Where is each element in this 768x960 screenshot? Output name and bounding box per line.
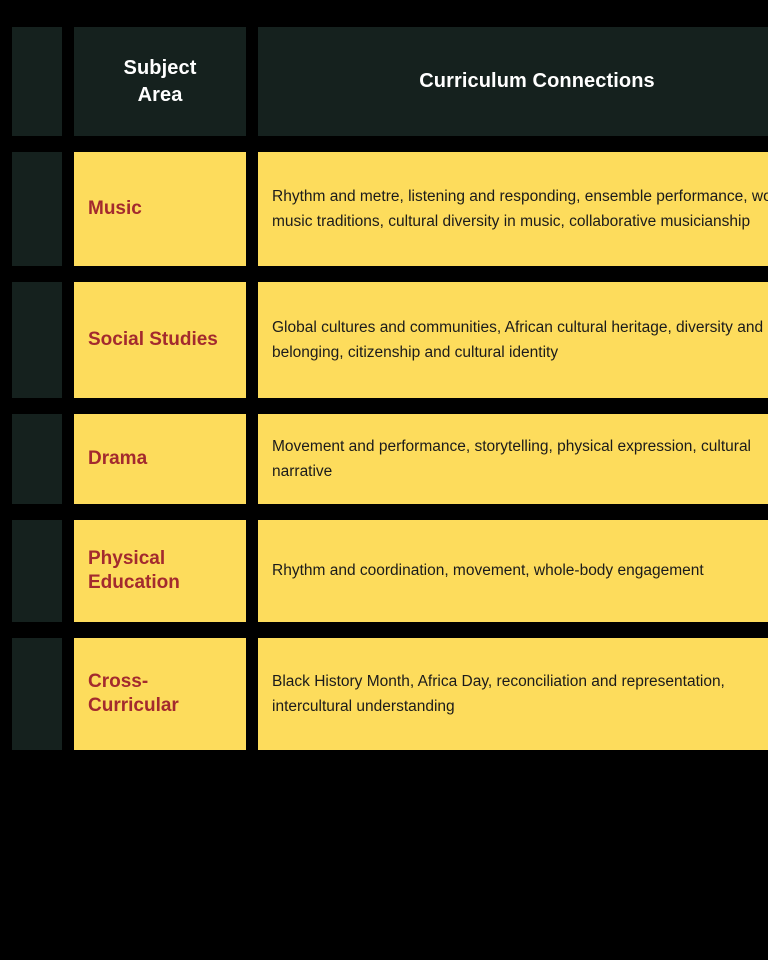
subject-area-cell: Social Studies [74,282,246,398]
table-row: Drama Movement and performance, storytel… [12,414,768,504]
subject-area-label: Music [88,197,232,221]
subject-area-label: Social Studies [88,328,232,352]
row-gutter-cell [12,520,62,622]
curriculum-connections-table: Subject Area Curriculum Connections Musi… [0,11,768,766]
curriculum-connections-cell: Global cultures and communities, African… [258,282,768,398]
header-gutter-cell [12,27,62,136]
header-curriculum-connections: Curriculum Connections [258,27,768,136]
header-subject-area-line2: Area [138,84,183,106]
row-gutter-cell [12,414,62,504]
header-subject-area: Subject Area [74,27,246,136]
curriculum-connections-cell: Black History Month, Africa Day, reconci… [258,638,768,750]
header-row: Subject Area Curriculum Connections [12,27,768,136]
subject-area-cell: Drama [74,414,246,504]
subject-area-cell: Cross-Curricular [74,638,246,750]
table-body: Music Rhythm and metre, listening and re… [12,152,768,750]
row-gutter-cell [12,638,62,750]
subject-area-label: Drama [88,447,232,471]
table-row: Physical Education Rhythm and coordinati… [12,520,768,622]
subject-area-cell: Music [74,152,246,266]
table-header: Subject Area Curriculum Connections [12,27,768,136]
row-gutter-cell [12,152,62,266]
curriculum-connections-cell: Rhythm and metre, listening and respondi… [258,152,768,266]
page-root: Subject Area Curriculum Connections Musi… [0,0,768,960]
subject-area-cell: Physical Education [74,520,246,622]
table-row: Social Studies Global cultures and commu… [12,282,768,398]
row-gutter-cell [12,282,62,398]
subject-area-label: Physical Education [88,547,232,596]
subject-area-label: Cross-Curricular [88,670,232,719]
table-row: Cross-Curricular Black History Month, Af… [12,638,768,750]
curriculum-connections-cell: Rhythm and coordination, movement, whole… [258,520,768,622]
table-row: Music Rhythm and metre, listening and re… [12,152,768,266]
curriculum-connections-cell: Movement and performance, storytelling, … [258,414,768,504]
header-subject-area-line1: Subject [124,57,197,79]
